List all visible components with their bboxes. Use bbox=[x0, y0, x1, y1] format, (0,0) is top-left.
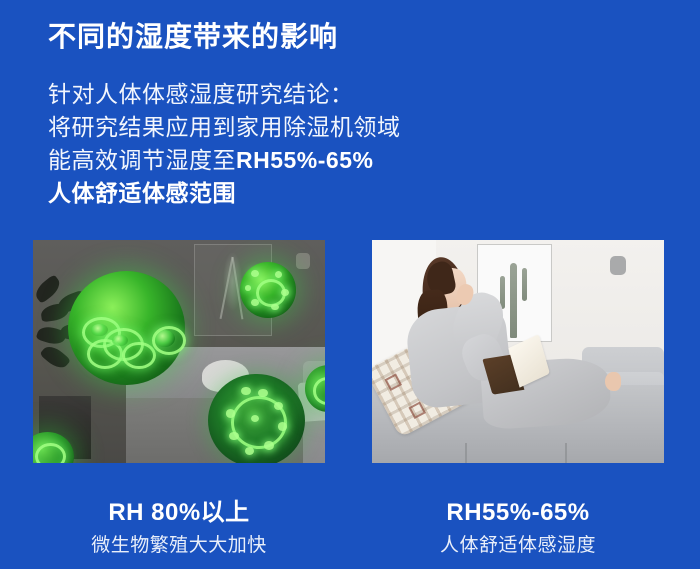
microbe-icon bbox=[68, 271, 185, 385]
microbe-blob-icon bbox=[91, 324, 107, 337]
caption-subtitle: 人体舒适体感湿度 bbox=[372, 533, 664, 558]
microbe-dot-icon bbox=[245, 447, 255, 455]
body-line-3: 能高效调节湿度至RH55%-65% bbox=[48, 144, 401, 177]
microbe-dot-icon bbox=[226, 409, 236, 417]
image-panel-comfort-humidity bbox=[372, 240, 664, 463]
caption-subtitle: 微生物繁殖大大加快 bbox=[33, 533, 325, 558]
humidity-range-value: RH55%-65% bbox=[236, 147, 373, 173]
microbe-ring-icon bbox=[152, 326, 186, 355]
microbe-dot-icon bbox=[281, 289, 289, 296]
body-line-4: 人体舒适体感范围 bbox=[48, 177, 401, 210]
leaf-icon bbox=[40, 342, 71, 372]
caption-high-humidity: RH 80%以上 微生物繁殖大大加快 bbox=[33, 498, 325, 558]
microbe-dot-icon bbox=[245, 285, 252, 291]
microbe-dot-icon bbox=[251, 270, 259, 277]
microbe-dot-icon bbox=[251, 299, 258, 306]
body-line-2: 将研究结果应用到家用除湿机领域 bbox=[48, 111, 401, 144]
microbe-icon bbox=[208, 374, 304, 463]
microbe-ring-icon bbox=[122, 342, 156, 370]
page-title: 不同的湿度带来的影响 bbox=[48, 18, 338, 56]
microbe-dot-icon bbox=[278, 422, 288, 430]
microbe-icon bbox=[240, 262, 295, 318]
microbe-ring-icon bbox=[35, 443, 66, 463]
microbe-dot-icon bbox=[264, 441, 274, 449]
person-reading bbox=[395, 253, 623, 458]
microbe-dot-icon bbox=[275, 271, 282, 278]
caption-title: RH 80%以上 bbox=[33, 498, 325, 528]
microbe-ring-icon bbox=[313, 377, 325, 405]
caption-comfort-humidity: RH55%-65% 人体舒适体感湿度 bbox=[372, 498, 664, 558]
dim-room-scene bbox=[33, 240, 325, 463]
microbe-dot-icon bbox=[271, 304, 278, 311]
wall-switch-icon bbox=[296, 253, 310, 269]
microbe-dot-icon bbox=[241, 387, 251, 395]
image-panel-high-humidity bbox=[33, 240, 325, 463]
body-line-3-prefix: 能高效调节湿度至 bbox=[48, 147, 236, 173]
leaf-icon bbox=[33, 274, 64, 303]
microbe-dot-icon bbox=[258, 389, 268, 397]
bright-room-scene bbox=[372, 240, 664, 463]
caption-title: RH55%-65% bbox=[372, 498, 664, 528]
poster-root: 不同的湿度带来的影响 针对人体体感湿度研究结论： 将研究结果应用到家用除湿机领域… bbox=[0, 0, 700, 569]
body-line-1: 针对人体体感湿度研究结论： bbox=[48, 78, 401, 111]
body-copy: 针对人体体感湿度研究结论： 将研究结果应用到家用除湿机领域 能高效调节湿度至RH… bbox=[48, 78, 401, 210]
foot bbox=[605, 372, 621, 390]
microbe-blob-icon bbox=[112, 335, 127, 346]
